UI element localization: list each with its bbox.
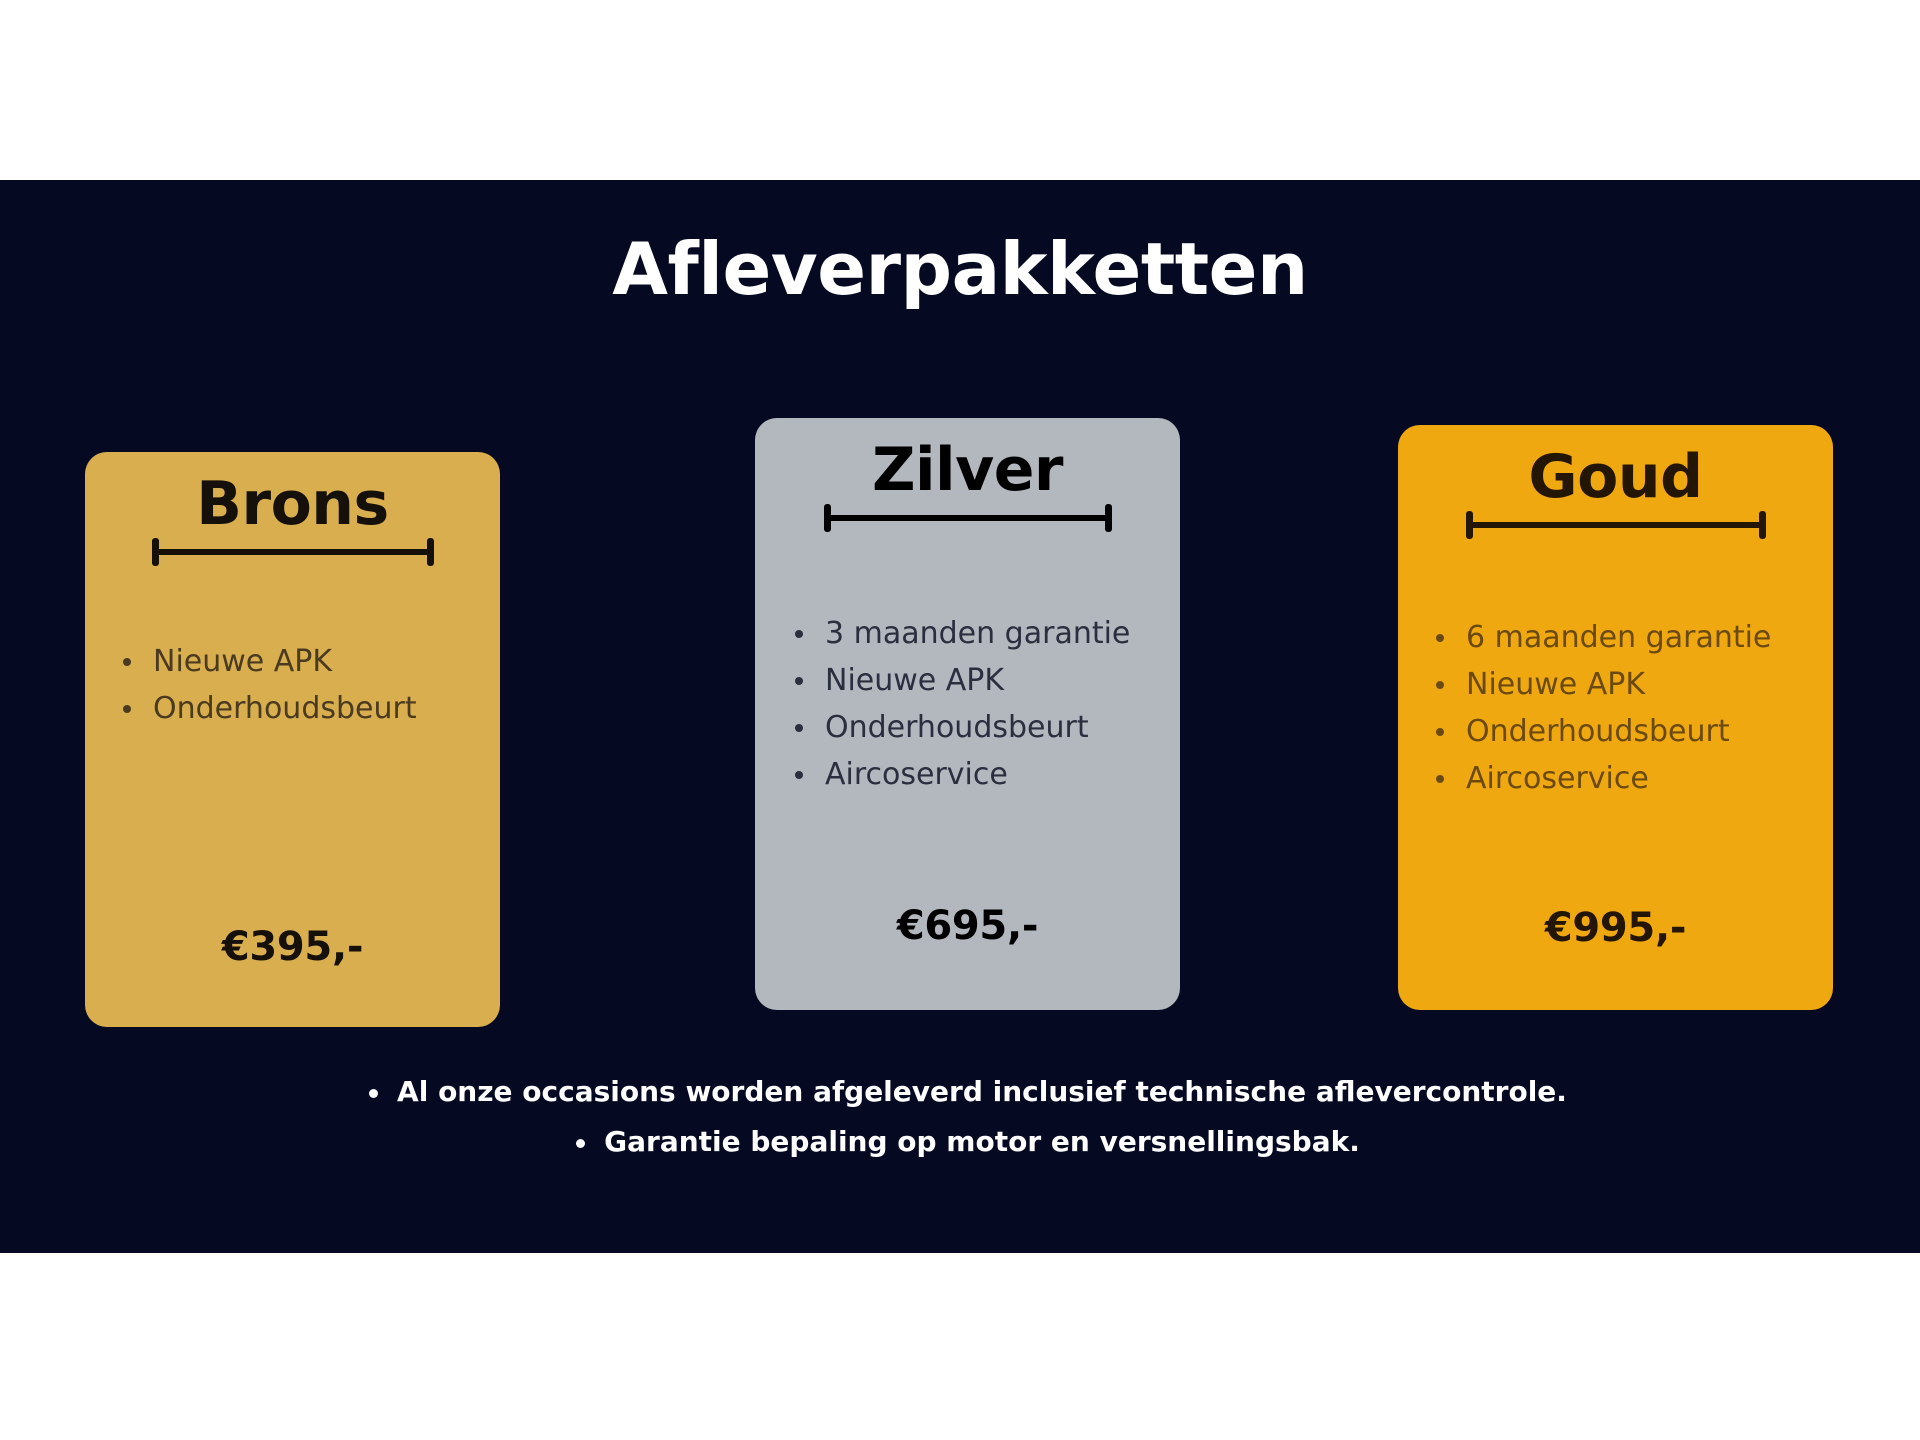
feature-label: 3 maanden garantie [825,616,1130,651]
package-price-brons: €395,- [85,924,500,970]
footer-note: Al onze occasions worden afgeleverd incl… [353,1078,1567,1106]
package-name-goud: Goud [1398,447,1833,507]
footer-note-row: Al onze occasions worden afgeleverd incl… [0,1078,1920,1128]
bullet-icon [369,1089,378,1098]
list-item: Onderhoudsbeurt [113,689,493,728]
feature-label: Nieuwe APK [1466,667,1645,702]
list-item: Aircoservice [1426,759,1836,798]
package-card-goud[interactable]: Goud 6 maanden garantie Nieuwe APK [1398,425,1833,1010]
feature-label: 6 maanden garantie [1466,620,1771,655]
card-header-zilver: Zilver [755,418,1180,530]
footer-note-row: Garantie bepaling op motor en versnellin… [0,1128,1920,1178]
list-item: Aircoservice [785,755,1185,794]
feature-label: Onderhoudsbeurt [153,691,417,726]
feature-list-zilver: 3 maanden garantie Nieuwe APK Onderhouds… [785,614,1185,802]
footer-note-label: Garantie bepaling op motor en versnellin… [604,1125,1360,1158]
bullet-icon [795,677,803,685]
bullet-icon [1436,634,1444,642]
card-header-brons: Brons [85,452,500,564]
footer-note-label: Al onze occasions worden afgeleverd incl… [397,1075,1567,1108]
letterbox-bottom [0,1253,1920,1440]
footer-note: Garantie bepaling op motor en versnellin… [560,1128,1360,1156]
bullet-icon [576,1139,585,1148]
bullet-icon [1436,681,1444,689]
bullet-icon [1436,775,1444,783]
package-price-goud: €995,- [1398,905,1833,951]
card-header-goud: Goud [1398,425,1833,537]
package-price-zilver: €695,- [755,903,1180,949]
list-item: Onderhoudsbeurt [785,708,1185,747]
letterbox-top [0,0,1920,180]
feature-label: Onderhoudsbeurt [1466,714,1730,749]
feature-label: Aircoservice [1466,761,1649,796]
feature-label: Nieuwe APK [153,644,332,679]
rule-cap-right [427,538,434,566]
list-item: Nieuwe APK [785,661,1185,700]
bullet-icon [1436,728,1444,736]
list-item: 3 maanden garantie [785,614,1185,653]
list-item: Onderhoudsbeurt [1426,712,1836,751]
list-item: Nieuwe APK [113,642,493,681]
rule-bar [152,549,434,555]
feature-label: Onderhoudsbeurt [825,710,1089,745]
dimension-rule-icon-brons [152,538,434,564]
feature-label: Nieuwe APK [825,663,1004,698]
footer-notes: Al onze occasions worden afgeleverd incl… [0,1078,1920,1178]
feature-label: Aircoservice [825,757,1008,792]
bullet-icon [123,705,131,713]
dimension-rule-icon-goud [1466,511,1766,537]
rule-cap-right [1759,511,1766,539]
package-card-zilver[interactable]: Zilver 3 maanden garantie Nieuwe APK [755,418,1180,1010]
rule-bar [1466,522,1766,528]
rule-bar [824,515,1112,521]
package-name-zilver: Zilver [755,440,1180,500]
bullet-icon [795,724,803,732]
feature-list-goud: 6 maanden garantie Nieuwe APK Onderhouds… [1426,618,1836,806]
slide-panel: Afleverpakketten Brons Nieuwe APK [0,180,1920,1253]
bullet-icon [795,630,803,638]
bullet-icon [123,658,131,666]
rule-cap-right [1105,504,1112,532]
dimension-rule-icon-zilver [824,504,1112,530]
bullet-icon [795,771,803,779]
package-name-brons: Brons [85,474,500,534]
feature-list-brons: Nieuwe APK Onderhoudsbeurt [113,642,493,736]
list-item: Nieuwe APK [1426,665,1836,704]
slide-canvas: Afleverpakketten Brons Nieuwe APK [0,0,1920,1440]
list-item: 6 maanden garantie [1426,618,1836,657]
package-card-brons[interactable]: Brons Nieuwe APK Onderhoudsbeurt [85,452,500,1027]
